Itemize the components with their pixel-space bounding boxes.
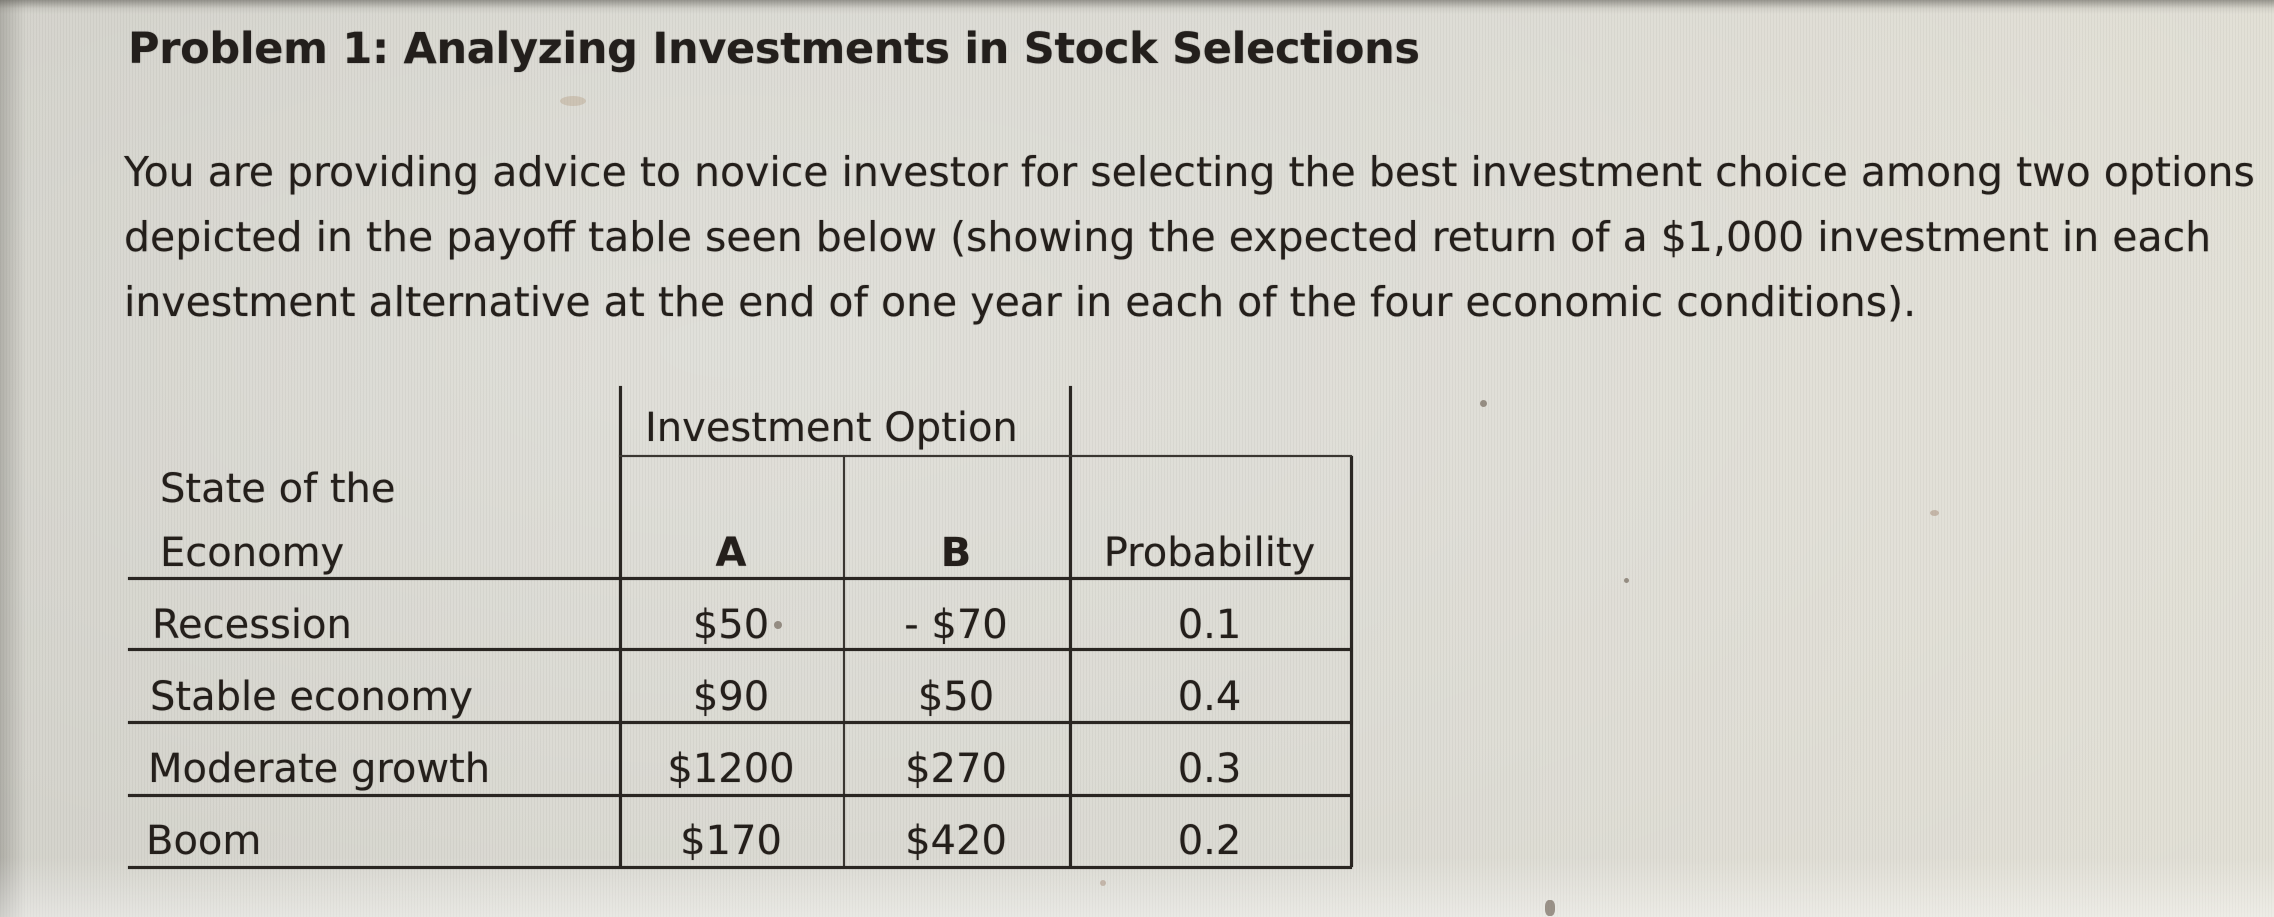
- table-column-header-probability: Probability: [1069, 530, 1350, 576]
- photographed-document-page: Problem 1: Analyzing Investments in Stoc…: [0, 0, 2274, 917]
- table-row: Stable economy: [150, 674, 473, 720]
- table-column-header-a: A: [619, 530, 843, 576]
- table-hrule-under-group-header: [619, 455, 1352, 457]
- table-cell-a: $90: [619, 674, 843, 720]
- table-hrule-under-column-headers: [128, 577, 1352, 580]
- table-vrule-a-b: [843, 456, 845, 867]
- table-cell-b: $270: [843, 746, 1069, 792]
- table-row-header-line-1: State of the: [160, 466, 396, 512]
- table-column-header-b: B: [843, 530, 1069, 576]
- table-row-header-line-2: Economy: [160, 530, 344, 576]
- table-cell-a: $1200: [619, 746, 843, 792]
- table-hrule-under-moderate-growth: [128, 794, 1352, 797]
- table-cell-probability: 0.4: [1069, 674, 1350, 720]
- table-row: Moderate growth: [148, 746, 490, 792]
- table-group-header-investment-option: Investment Option: [645, 405, 1018, 451]
- payoff-table: Investment Option State of the Economy A…: [0, 0, 2274, 917]
- table-cell-probability: 0.1: [1069, 602, 1350, 648]
- table-row: Recession: [152, 602, 352, 648]
- table-row: Boom: [146, 818, 261, 864]
- table-cell-probability: 0.3: [1069, 746, 1350, 792]
- table-cell-b: - $70: [843, 602, 1069, 648]
- table-cell-a: $170: [619, 818, 843, 864]
- table-cell-b: $50: [843, 674, 1069, 720]
- table-hrule-under-stable-economy: [128, 721, 1352, 724]
- table-hrule-under-recession: [128, 648, 1352, 651]
- table-cell-probability: 0.2: [1069, 818, 1350, 864]
- table-vrule-right-edge: [1350, 456, 1353, 867]
- table-cell-b: $420: [843, 818, 1069, 864]
- table-hrule-table-bottom: [128, 866, 1352, 869]
- table-cell-a: $50: [619, 602, 843, 648]
